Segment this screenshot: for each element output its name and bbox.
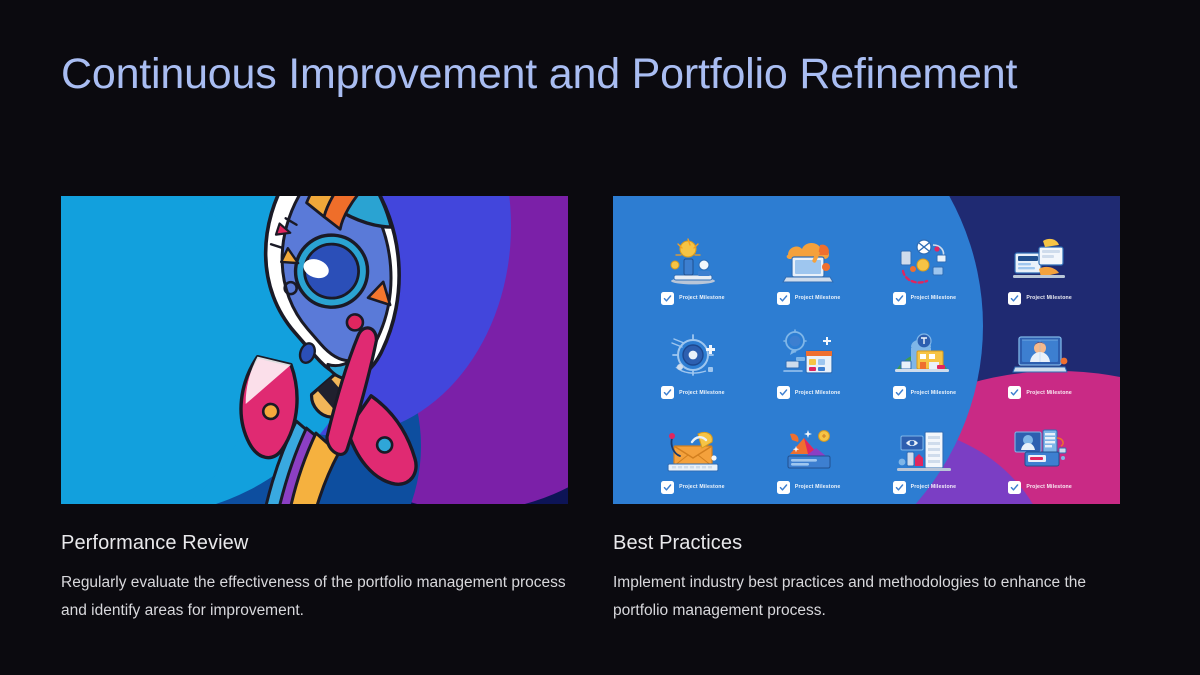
checkbox-checked-icon[interactable] [893,481,906,494]
checkbox-checked-icon[interactable] [1008,292,1021,305]
milestone-label-row[interactable]: Project Milestone [777,481,841,494]
checkbox-checked-icon[interactable] [661,386,674,399]
checkbox-checked-icon[interactable] [777,481,790,494]
target-gauge-icon [662,329,724,381]
milestone-label: Project Milestone [679,295,725,301]
monitor-devices-icon [1009,424,1071,476]
slide: Continuous Improvement and Portfolio Ref… [0,0,1200,675]
gear-storefront-icon [778,329,840,381]
card-best-practices: Project MilestoneProject MilestoneProjec… [613,196,1120,624]
milestone-item[interactable]: Project Milestone [982,210,1098,305]
milestone-label-row[interactable]: Project Milestone [777,386,841,399]
milestone-label: Project Milestone [679,484,725,490]
office-tower-icon [893,424,955,476]
checkbox-checked-icon[interactable] [1008,386,1021,399]
milestone-label: Project Milestone [795,390,841,396]
checkbox-checked-icon[interactable] [893,386,906,399]
page-title: Continuous Improvement and Portfolio Ref… [61,50,1017,99]
checkbox-checked-icon[interactable] [661,481,674,494]
rocket-vector [61,196,568,504]
milestone-label: Project Milestone [1026,484,1072,490]
network-chart-icon [893,235,955,287]
milestone-item[interactable]: Project Milestone [982,399,1098,494]
milestone-item[interactable]: Project Milestone [867,210,983,305]
milestone-item[interactable]: Project Milestone [867,305,983,400]
card-row: Performance Review Regularly evaluate th… [61,196,1139,624]
milestone-item[interactable]: Project Milestone [867,399,983,494]
milestone-label-row[interactable]: Project Milestone [777,292,841,305]
card-body: Regularly evaluate the effectiveness of … [61,569,568,624]
milestone-label-row[interactable]: Project Milestone [661,481,725,494]
laptop-cloud-icon [778,235,840,287]
checkbox-checked-icon[interactable] [777,292,790,305]
milestone-label-row[interactable]: Project Milestone [893,292,957,305]
dashboard-screens-icon [1009,235,1071,287]
card-heading: Performance Review [61,532,568,555]
milestone-label: Project Milestone [795,484,841,490]
checkbox-checked-icon[interactable] [1008,481,1021,494]
rocket-illustration [61,196,568,504]
milestone-item[interactable]: Project Milestone [635,399,751,494]
checkbox-checked-icon[interactable] [661,292,674,305]
milestone-label-row[interactable]: Project Milestone [1008,386,1072,399]
milestone-item[interactable]: Project Milestone [635,305,751,400]
milestone-label: Project Milestone [1026,390,1072,396]
laptop-envelope-icon [662,424,724,476]
milestone-label: Project Milestone [795,295,841,301]
milestone-label: Project Milestone [911,484,957,490]
milestone-item[interactable]: Project Milestone [751,305,867,400]
milestone-label: Project Milestone [679,390,725,396]
milestone-label-row[interactable]: Project Milestone [1008,292,1072,305]
milestone-item[interactable]: Project Milestone [635,210,751,305]
card-body: Implement industry best practices and me… [613,569,1120,624]
milestone-label-row[interactable]: Project Milestone [1008,481,1072,494]
milestone-label-row[interactable]: Project Milestone [893,386,957,399]
card-heading: Best Practices [613,532,1120,555]
mountain-rocket-icon [778,424,840,476]
milestone-label: Project Milestone [911,295,957,301]
milestone-grid-illustration: Project MilestoneProject MilestoneProjec… [613,196,1120,504]
laptop-person-icon [1009,329,1071,381]
milestone-label: Project Milestone [911,390,957,396]
milestone-item[interactable]: Project Milestone [751,210,867,305]
milestone-label-row[interactable]: Project Milestone [661,386,725,399]
milestone-label: Project Milestone [1026,295,1072,301]
milestone-item[interactable]: Project Milestone [982,305,1098,400]
checkbox-checked-icon[interactable] [893,292,906,305]
shop-building-icon [893,329,955,381]
brainstorm-icon [662,235,724,287]
milestone-item[interactable]: Project Milestone [751,399,867,494]
milestone-label-row[interactable]: Project Milestone [893,481,957,494]
card-performance-review: Performance Review Regularly evaluate th… [61,196,568,624]
milestone-label-row[interactable]: Project Milestone [661,292,725,305]
milestone-grid: Project MilestoneProject MilestoneProjec… [613,196,1120,504]
checkbox-checked-icon[interactable] [777,386,790,399]
